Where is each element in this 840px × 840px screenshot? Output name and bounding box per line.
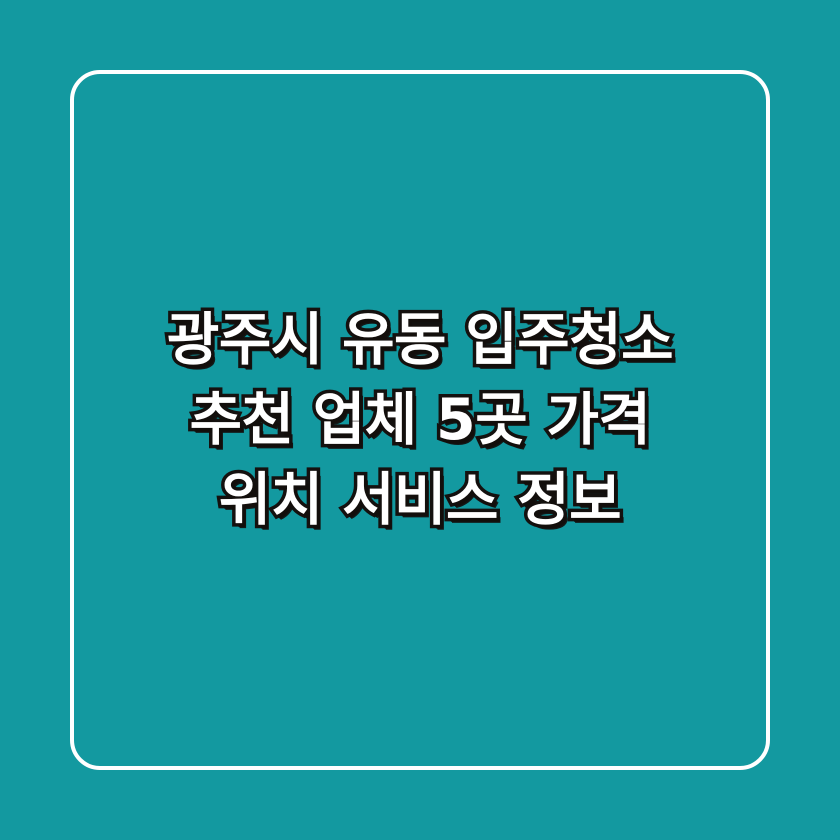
thumbnail-card: 광주시 유동 입주청소 추천 업체 5곳 가격 위치 서비스 정보 (0, 0, 840, 840)
title-block: 광주시 유동 입주청소 추천 업체 5곳 가격 위치 서비스 정보 (0, 0, 840, 840)
title-line-3: 위치 서비스 정보 (0, 460, 840, 540)
title-line-2: 추천 업체 5곳 가격 (0, 380, 840, 460)
title-line-1: 광주시 유동 입주청소 (0, 300, 840, 380)
